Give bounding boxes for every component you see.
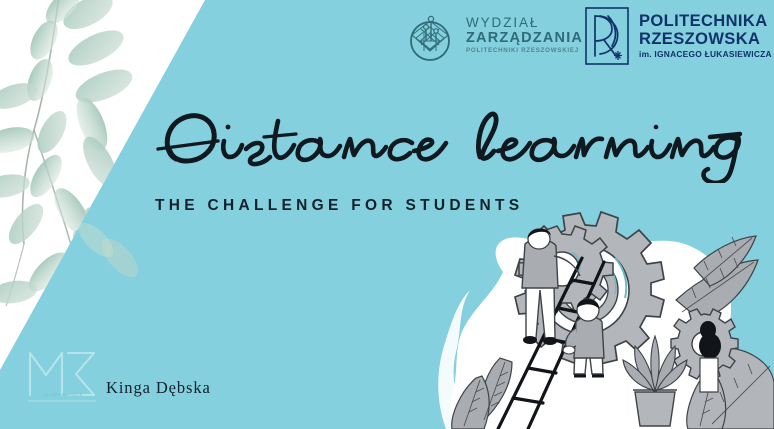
logo-wydzial-zarzadzania-text: WYDZIAŁ ZARZĄDZANIA POLITECHNIKI RZESZOW…: [466, 16, 583, 55]
logo-row: WYDZIAŁ ZARZĄDZANIA POLITECHNIKI RZESZOW…: [0, 0, 774, 80]
wydzial-zarzadzania-emblem-icon: [404, 7, 458, 63]
logo-pr-line2: RZESZOWSKA: [639, 31, 772, 48]
logo-wz-line1: WYDZIAŁ: [466, 16, 583, 30]
presentation-slide: WYDZIAŁ ZARZĄDZANIA POLITECHNIKI RZESZOW…: [0, 0, 774, 429]
logo-politechnika-rzeszowska: POLITECHNIKA RZESZOWSKA im. IGNACEGO ŁUK…: [584, 6, 772, 66]
politechnika-rzeszowska-pr-monogram-icon: [584, 6, 630, 66]
logo-pr-line1: POLITECHNIKA: [639, 13, 772, 30]
logo-pr-line3: im. IGNACEGO ŁUKASIEWICZA: [639, 50, 772, 59]
page-subtitle: THE CHALLENGE FOR STUDENTS: [155, 197, 523, 215]
mz-monogram-watermark-icon: [24, 341, 100, 413]
author-name: Kinga Dębska: [106, 378, 211, 398]
logo-wz-line2: ZARZĄDZANIA: [466, 31, 583, 46]
watermark-caption: MŁODZI W NAUCE: [24, 392, 102, 398]
logo-politechnika-rzeszowska-text: POLITECHNIKA RZESZOWSKA im. IGNACEGO ŁUK…: [639, 13, 772, 58]
logo-wz-line3: POLITECHNIKI RZESZOWSKIEJ: [466, 48, 583, 55]
logo-wydzial-zarzadzania: WYDZIAŁ ZARZĄDZANIA POLITECHNIKI RZESZOW…: [404, 7, 583, 63]
